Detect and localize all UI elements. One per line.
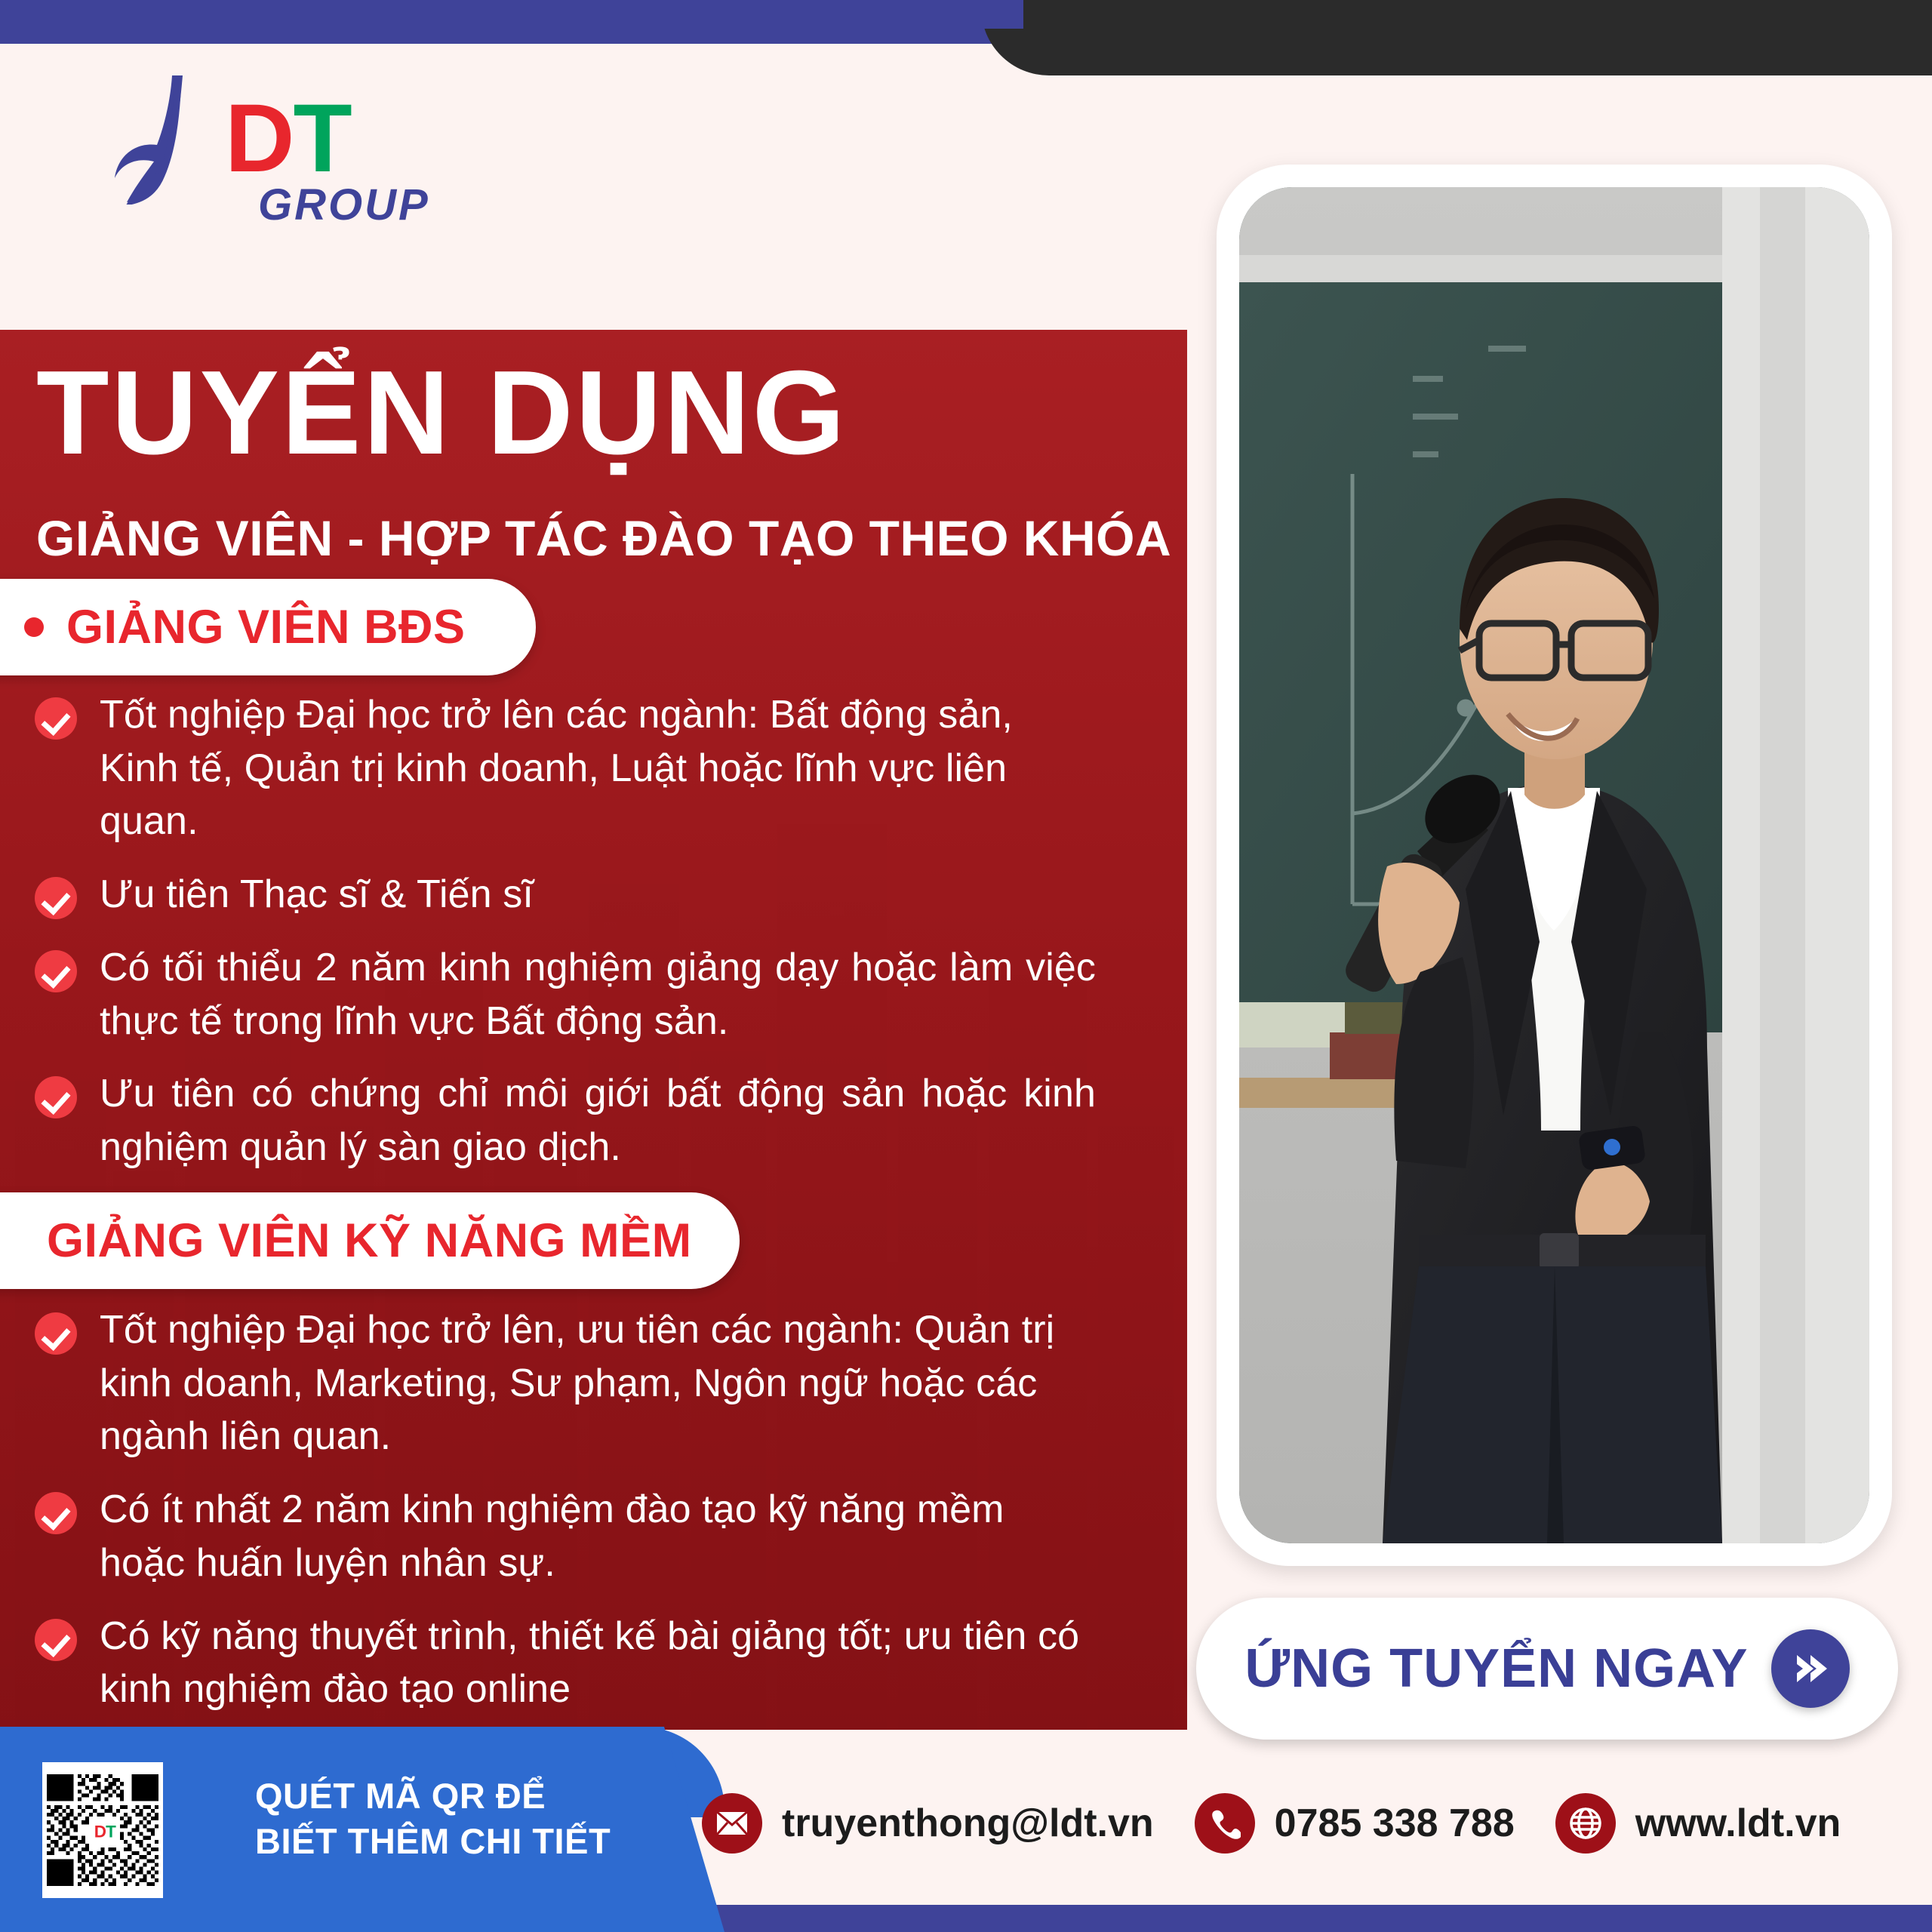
check-icon [35,1492,77,1534]
list-item: Ưu tiên Thạc sĩ & Tiến sĩ [35,868,1144,921]
section-header-bds: GIẢNG VIÊN BĐS [0,579,536,675]
list-item: Tốt nghiệp Đại học trở lên, ưu tiên các … [35,1303,1144,1463]
section-label: GIẢNG VIÊN KỸ NĂNG MỀM [47,1214,692,1268]
requirements-list-soft-skills: Tốt nghiệp Đại học trở lên, ưu tiên các … [35,1303,1144,1730]
list-item-text: Có ít nhất 2 năm kinh nghiệm đào tạo kỹ … [100,1483,1096,1589]
check-icon [35,1076,77,1118]
check-icon [35,1619,77,1661]
page-subtitle: GIẢNG VIÊN - HỢP TÁC ĐÀO TẠO THEO KHÓA [36,509,1171,567]
requirements-red-panel: TUYỂN DỤNG GIẢNG VIÊN - HỢP TÁC ĐÀO TẠO … [0,330,1187,1730]
qr-code[interactable]: D T [42,1762,163,1898]
check-icon [35,877,77,919]
apply-now-button[interactable]: ỨNG TUYỂN NGAY [1196,1598,1898,1740]
contact-email-text: truyenthong@ldt.vn [782,1801,1154,1846]
double-chevron-right-icon [1771,1629,1850,1708]
logo-group-word: GROUP [258,180,430,230]
logo-swirl-icon [113,72,226,205]
requirements-list-bds: Tốt nghiệp Đại học trở lên các ngành: Bấ… [35,688,1144,1194]
speaker-photo-frame [1217,165,1892,1566]
check-icon [35,1312,77,1355]
list-item-text: Có kỹ năng thuyết trình, thiết kế bài gi… [100,1610,1096,1716]
qr-instruction-line-1: QUÉT MÃ QR ĐỂ [255,1774,611,1819]
page-title: TUYỂN DỤNG [36,351,848,476]
list-item-text: Có tối thiểu 2 năm kinh nghiệm giảng dạy… [100,941,1096,1048]
qr-code-image: D T [47,1767,158,1894]
list-item-text: Ưu tiên có chứng chỉ môi giới bất động s… [100,1067,1096,1174]
top-dark-corner-shape [981,0,1932,75]
top-navy-bar [0,0,996,44]
recruitment-poster: DT GROUP [0,0,1932,1932]
contact-website[interactable]: www.ldt.vn [1555,1793,1841,1854]
contact-phone[interactable]: 0785 338 788 [1195,1793,1515,1854]
list-item: Ưu tiên có chứng chỉ môi giới bất động s… [35,1067,1144,1174]
apply-now-label: ỨNG TUYỂN NGAY [1244,1638,1748,1700]
bullet-dot-icon [24,617,44,637]
list-item: Có kỹ năng thuyết trình, thiết kế bài gi… [35,1610,1144,1716]
logo-letter-t: T [293,85,350,192]
check-icon [35,950,77,992]
contact-bar: truyenthong@ldt.vn 0785 338 788 www.ldt.… [702,1793,1881,1854]
ldt-group-logo: DT GROUP [113,68,430,211]
logo-dt-letters: DT [225,91,351,187]
list-item-text: Tốt nghiệp Đại học trở lên, ưu tiên các … [100,1303,1096,1463]
list-item-text: Ưu tiên Thạc sĩ & Tiến sĩ [100,868,1096,921]
contact-phone-text: 0785 338 788 [1275,1801,1515,1846]
contact-website-text: www.ldt.vn [1635,1801,1841,1846]
phone-icon [1195,1793,1255,1854]
section-header-soft-skills: GIẢNG VIÊN KỸ NĂNG MỀM [0,1192,740,1289]
speaker-photo-illustration [1239,187,1869,1543]
qr-instruction-line-2: BIẾT THÊM CHI TIẾT [255,1819,611,1864]
contact-email[interactable]: truyenthong@ldt.vn [702,1793,1154,1854]
svg-text:D: D [94,1823,106,1841]
logo-letter-d: D [225,85,293,192]
section-label: GIẢNG VIÊN BĐS [66,600,466,654]
list-item-text: Tốt nghiệp Đại học trở lên các ngành: Bấ… [100,688,1096,848]
list-item: Có ít nhất 2 năm kinh nghiệm đào tạo kỹ … [35,1483,1144,1589]
check-icon [35,697,77,740]
globe-icon [1555,1793,1616,1854]
svg-text:T: T [106,1823,116,1841]
list-item: Tốt nghiệp Đại học trở lên các ngành: Bấ… [35,688,1144,848]
speaker-photo [1239,187,1869,1543]
list-item: Có tối thiểu 2 năm kinh nghiệm giảng dạy… [35,941,1144,1048]
qr-instruction-text: QUÉT MÃ QR ĐỂ BIẾT THÊM CHI TIẾT [255,1774,611,1864]
email-icon [702,1793,762,1854]
